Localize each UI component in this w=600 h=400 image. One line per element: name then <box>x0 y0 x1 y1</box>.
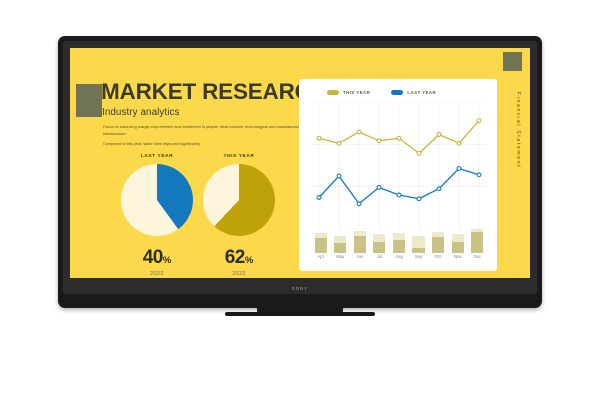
month-label: Jun <box>350 254 370 259</box>
monitor-frame: MARKET RESEARCH Industry analytics Focus… <box>58 36 542 308</box>
legend-item-last-year: LAST YEAR <box>391 90 436 95</box>
legend-label-this-year: THIS YEAR <box>343 90 370 95</box>
bar-column <box>354 231 366 253</box>
month-label: Jul <box>370 254 390 259</box>
pie-chart-this-year: THIS YEAR 62% 2023 <box>200 154 278 277</box>
bar-column <box>393 233 405 253</box>
month-label: Nov <box>448 254 468 259</box>
chart-legend: THIS YEAR LAST YEAR <box>327 90 436 95</box>
pie-year-this-year: 2023 <box>200 271 278 277</box>
decorative-block-left <box>76 84 102 117</box>
pie-chart-last-year: LAST YEAR 40% 2022 <box>118 154 196 277</box>
decorative-block-top-right <box>503 52 522 71</box>
pie-percent-this-year: 62% <box>200 247 278 269</box>
bar-column <box>412 236 424 253</box>
bar-segment-bottom <box>471 232 483 253</box>
chart-card: THIS YEAR LAST YEAR AprMayJunJulAugSepOc… <box>299 79 497 271</box>
bar-segment-bottom <box>412 248 424 253</box>
legend-swatch-last-year <box>391 90 403 95</box>
legend-label-last-year: LAST YEAR <box>407 90 436 95</box>
bar-column <box>471 229 483 253</box>
pie-graphic-this-year <box>203 164 275 236</box>
legend-swatch-this-year <box>327 90 339 95</box>
month-label: Dec <box>468 254 488 259</box>
bar-column <box>334 236 346 253</box>
pie-percent-last-year: 40% <box>118 247 196 269</box>
monitor-screen: MARKET RESEARCH Industry analytics Focus… <box>70 48 530 278</box>
pie-caption-this-year: THIS YEAR <box>200 154 278 159</box>
bar-column <box>315 233 327 253</box>
bar-segment-bottom <box>452 242 464 253</box>
bar-column <box>432 232 444 253</box>
bar-segment-top <box>452 234 464 242</box>
bar-segment-bottom <box>432 237 444 253</box>
presentation-slide: MARKET RESEARCH Industry analytics Focus… <box>70 48 530 278</box>
monitor-inner-bezel: MARKET RESEARCH Industry analytics Focus… <box>63 41 537 294</box>
x-axis-month-labels: AprMayJunJulAugSepOctNovDec <box>311 254 487 259</box>
pie-percent-sign-this-year: % <box>245 255 253 266</box>
bar-segment-top <box>412 236 424 248</box>
month-label: Apr <box>311 254 331 259</box>
brand-logo: SONY <box>292 286 308 291</box>
body-paragraph-1: Focus on balancing margin improvement an… <box>103 124 303 137</box>
pie-percent-value-last-year: 40 <box>143 247 163 268</box>
bar-chart-area <box>311 229 487 253</box>
bar-segment-top <box>334 236 346 244</box>
bar-segment-bottom <box>393 240 405 253</box>
month-label: Oct <box>428 254 448 259</box>
side-vertical-label: Financial Statement <box>515 92 521 168</box>
bar-segment-bottom <box>334 243 346 253</box>
month-label: Sep <box>409 254 429 259</box>
month-label: May <box>331 254 351 259</box>
pie-percent-value-this-year: 62 <box>225 247 245 268</box>
pie-percent-sign-last-year: % <box>163 255 171 266</box>
monitor-stand-base <box>225 312 375 316</box>
bar-segment-top <box>393 233 405 240</box>
page-subtitle: Industry analytics <box>102 107 180 118</box>
page-title: MARKET RESEARCH <box>101 81 327 104</box>
bar-segment-bottom <box>373 242 385 254</box>
legend-item-this-year: THIS YEAR <box>327 90 370 95</box>
pie-caption-last-year: LAST YEAR <box>118 154 196 159</box>
bar-segment-top <box>373 234 385 242</box>
line-chart-plot <box>311 103 487 229</box>
bar-column <box>452 234 464 253</box>
bar-segment-bottom <box>315 238 327 253</box>
body-paragraph-2: Compared to last year, sales have improv… <box>103 141 303 148</box>
bar-column <box>373 234 385 253</box>
pie-year-last-year: 2022 <box>118 271 196 277</box>
month-label: Aug <box>389 254 409 259</box>
bar-segment-bottom <box>354 236 366 253</box>
pie-graphic-last-year <box>121 164 193 236</box>
